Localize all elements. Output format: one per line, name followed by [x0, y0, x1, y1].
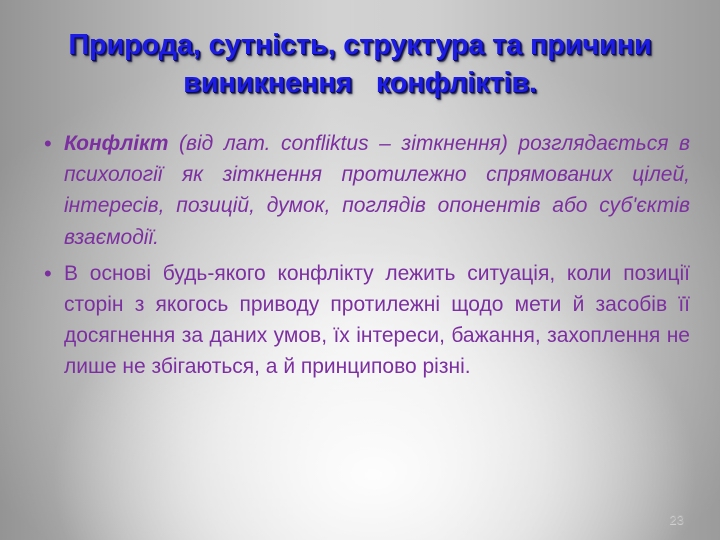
bullet-text-1: Конфлікт (від лат. confliktus – зіткненн… [64, 128, 690, 253]
bullet-lead-term: Конфлікт [64, 132, 168, 155]
bullet-point-icon: • [38, 128, 64, 159]
slide-title: Природа, сутність, структура та причини … [36, 26, 684, 102]
title-line-1: Природа, сутність, структура та причини [36, 26, 684, 64]
presentation-slide: Природа, сутність, структура та причини … [0, 0, 720, 540]
list-item: • Конфлікт (від лат. confliktus – зіткне… [38, 128, 690, 253]
title-line-2: виникнення конфліктів. [36, 64, 684, 102]
bullet-text-2: В основі будь-якого конфлікту лежить сит… [64, 258, 690, 383]
slide-body: • Конфлікт (від лат. confliktus – зіткне… [38, 128, 690, 383]
list-item: • В основі будь-якого конфлікту лежить с… [38, 258, 690, 383]
bullet-point-icon: • [38, 258, 64, 289]
slide-number: 23 [670, 512, 684, 528]
bullet-body-text: В основі будь-якого конфлікту лежить сит… [64, 262, 690, 379]
